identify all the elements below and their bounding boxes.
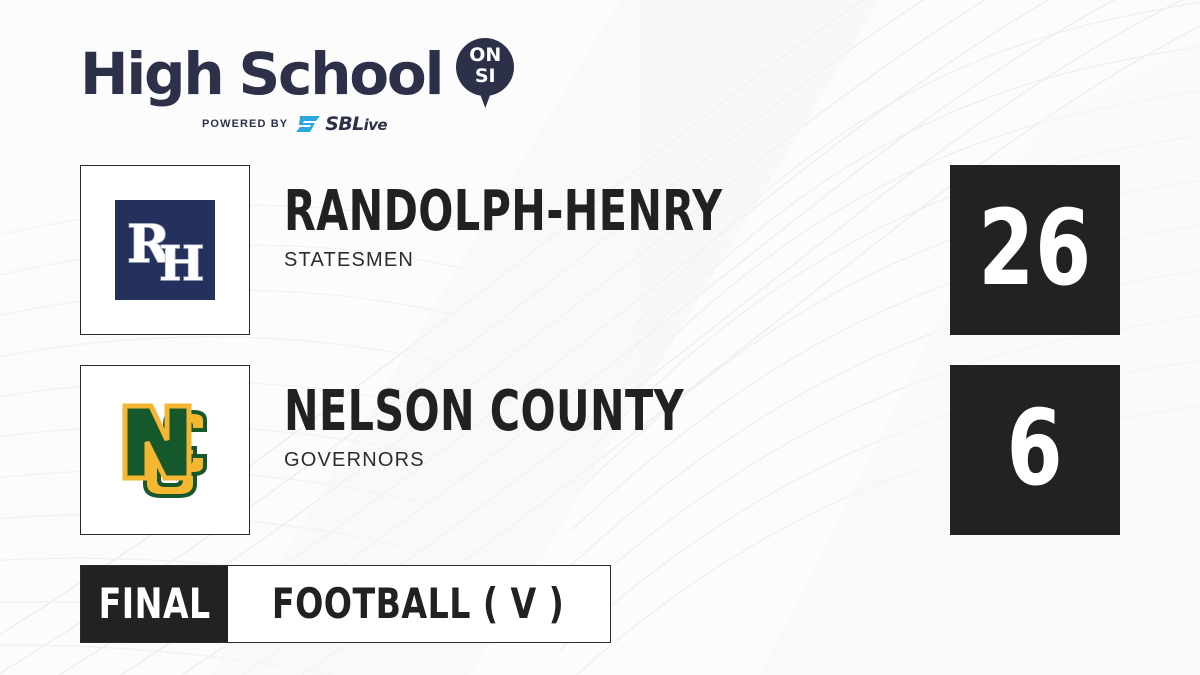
- status-badge: FINAL: [81, 566, 228, 642]
- team-text-1: RANDOLPH-HENRY STATESMEN: [284, 183, 819, 272]
- team-mascot-1: STATESMEN: [284, 249, 819, 272]
- pin-line-on: ON: [469, 44, 501, 66]
- sblive-logo: SBLive: [296, 114, 387, 134]
- nelson-county-nc-logo: [111, 396, 219, 504]
- randolph-henry-rh-logo: R H: [115, 200, 215, 300]
- team-logo-box-1: R H: [80, 165, 250, 335]
- brand-logo: High School ON SI POWERED BY SBLive: [80, 38, 514, 134]
- team-score-box-2: 6: [950, 365, 1120, 535]
- pin-line-si: SI: [475, 65, 496, 87]
- team-name-1: RANDOLPH-HENRY: [284, 183, 722, 241]
- svg-text:H: H: [159, 236, 204, 292]
- team-row-2: NELSON COUNTY GOVERNORS 6: [0, 365, 1200, 535]
- sblive-s-mark-icon: [296, 114, 322, 134]
- brand-title-row: High School ON SI: [80, 38, 514, 110]
- team-score-box-1: 26: [950, 165, 1120, 335]
- sport-label-box: FOOTBALL ( V ): [228, 566, 610, 642]
- sblive-word-main: SBL: [325, 113, 363, 135]
- team-mascot-2: GOVERNORS: [284, 449, 772, 472]
- team-score-2: 6: [1007, 396, 1064, 500]
- team-logo-box-2: [80, 365, 250, 535]
- sblive-word-tail: ive: [364, 116, 387, 134]
- team-text-2: NELSON COUNTY GOVERNORS: [284, 383, 772, 472]
- team-name-2: NELSON COUNTY: [284, 383, 684, 441]
- powered-by-row: POWERED BY SBLive: [202, 114, 514, 134]
- team-score-1: 26: [978, 196, 1092, 300]
- on-si-pin-icon: ON SI: [456, 38, 514, 110]
- sblive-wordmark: SBLive: [325, 115, 387, 134]
- team-row-1: R H RANDOLPH-HENRY STATESMEN 26: [0, 165, 1200, 335]
- sport-label: FOOTBALL ( V ): [272, 583, 564, 625]
- brand-word-high: High: [80, 45, 222, 103]
- brand-word-school: School: [238, 45, 442, 103]
- powered-by-label: POWERED BY: [202, 118, 288, 130]
- pin-text: ON SI: [456, 45, 514, 87]
- status-badge-label: FINAL: [98, 583, 210, 625]
- game-status-bar: FINAL FOOTBALL ( V ): [80, 565, 611, 643]
